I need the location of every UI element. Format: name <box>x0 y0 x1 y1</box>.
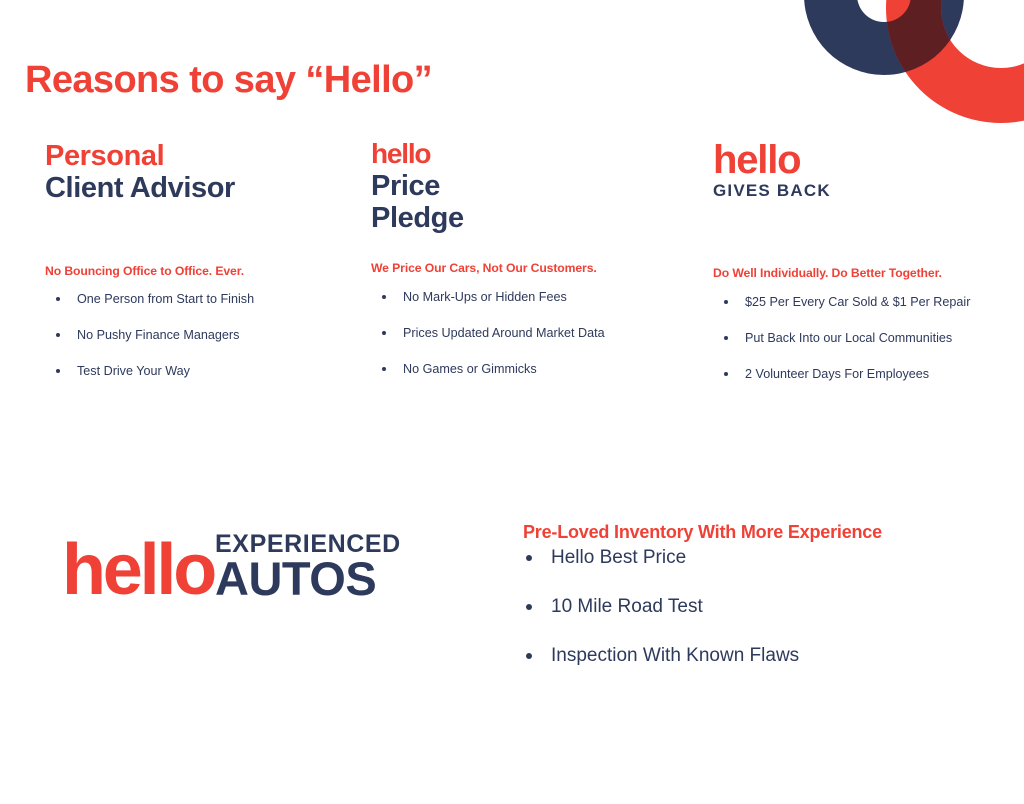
bullet-dot-icon <box>382 331 386 335</box>
list-item-label: 2 Volunteer Days For Employees <box>745 367 929 381</box>
list-item: No Games or Gimmicks <box>379 362 605 377</box>
logo-autos-label: AUTOS <box>215 560 376 599</box>
bullet-dot-icon <box>56 369 60 373</box>
list-item: 2 Volunteer Days For Employees <box>721 367 970 382</box>
column-tagline: GIVES BACK <box>713 181 1013 200</box>
column-heading-line1: Price <box>371 170 671 202</box>
hello-wordmark: hello <box>371 140 671 168</box>
list-item: Hello Best Price <box>523 548 799 569</box>
list-item-label: 10 Mile Road Test <box>551 596 703 617</box>
bullet-dot-icon <box>724 372 728 376</box>
column-heading-line1: Personal <box>45 140 345 172</box>
column-heading: hello Price Pledge <box>371 140 671 235</box>
list-item: Inspection With Known Flaws <box>523 646 799 667</box>
bullet-dot-icon <box>382 295 386 299</box>
list-item: No Pushy Finance Managers <box>53 328 254 343</box>
overlap-shape <box>886 0 1024 123</box>
list-item-label: One Person from Start to Finish <box>77 292 254 306</box>
feature-columns: Personal Client Advisor No Bouncing Offi… <box>0 140 1024 400</box>
column-subheading: We Price Our Cars, Not Our Customers. <box>371 261 597 275</box>
list-item-label: Inspection With Known Flaws <box>551 645 799 666</box>
bullet-dot-icon <box>526 604 532 610</box>
list-item-label: No Pushy Finance Managers <box>77 328 239 342</box>
list-item-label: Hello Best Price <box>551 547 686 568</box>
column-subheading: Do Well Individually. Do Better Together… <box>713 266 942 280</box>
logo-text-stack: EXPERIENCED AUTOS <box>215 532 401 599</box>
bottom-heading: Pre-Loved Inventory With More Experience <box>523 522 882 543</box>
bullet-dot-icon <box>56 333 60 337</box>
bottom-bullet-list: Hello Best Price 10 Mile Road Test Inspe… <box>523 548 799 695</box>
column-subheading: No Bouncing Office to Office. Ever. <box>45 264 244 278</box>
feature-column-gives-back: hello GIVES BACK Do Well Individually. D… <box>713 140 1013 200</box>
list-item-label: Prices Updated Around Market Data <box>403 326 605 340</box>
hello-experienced-autos-logo: hello EXPERIENCED AUTOS <box>62 532 401 599</box>
column-heading: hello GIVES BACK <box>713 140 1013 200</box>
column-bullet-list: No Mark-Ups or Hidden Fees Prices Update… <box>379 290 605 398</box>
bullet-dot-icon <box>724 300 728 304</box>
list-item-label: No Games or Gimmicks <box>403 362 537 376</box>
list-item: Prices Updated Around Market Data <box>379 326 605 341</box>
column-heading-line2: Pledge <box>371 202 671 234</box>
list-item: 10 Mile Road Test <box>523 597 799 618</box>
list-item: $25 Per Every Car Sold & $1 Per Repair <box>721 295 970 310</box>
bullet-dot-icon <box>724 336 728 340</box>
bullet-dot-icon <box>382 367 386 371</box>
list-item-label: $25 Per Every Car Sold & $1 Per Repair <box>745 295 970 309</box>
red-ring-shape <box>886 0 1024 123</box>
column-heading: Personal Client Advisor <box>45 140 345 205</box>
column-bullet-list: $25 Per Every Car Sold & $1 Per Repair P… <box>721 295 970 403</box>
page-title: Reasons to say “Hello” <box>25 59 432 102</box>
list-item: Test Drive Your Way <box>53 364 254 379</box>
bullet-dot-icon <box>526 555 532 561</box>
list-item: One Person from Start to Finish <box>53 292 254 307</box>
list-item-label: Test Drive Your Way <box>77 364 190 378</box>
list-item-label: No Mark-Ups or Hidden Fees <box>403 290 567 304</box>
column-bullet-list: One Person from Start to Finish No Pushy… <box>53 292 254 400</box>
feature-column-personal-client-advisor: Personal Client Advisor No Bouncing Offi… <box>45 140 345 205</box>
hello-wordmark: hello <box>713 140 1013 180</box>
list-item: No Mark-Ups or Hidden Fees <box>379 290 605 305</box>
list-item: Put Back Into our Local Communities <box>721 331 970 346</box>
hello-wordmark: hello <box>62 542 214 598</box>
bottom-section: hello EXPERIENCED AUTOS Pre-Loved Invent… <box>0 490 1024 720</box>
navy-ring-shape <box>804 0 964 75</box>
column-heading-line2: Client Advisor <box>45 172 345 204</box>
bullet-dot-icon <box>56 297 60 301</box>
list-item-label: Put Back Into our Local Communities <box>745 331 952 345</box>
slide-canvas: Reasons to say “Hello” Personal Client A… <box>0 0 1024 804</box>
bullet-dot-icon <box>526 653 532 659</box>
feature-column-price-pledge: hello Price Pledge We Price Our Cars, No… <box>371 140 671 235</box>
